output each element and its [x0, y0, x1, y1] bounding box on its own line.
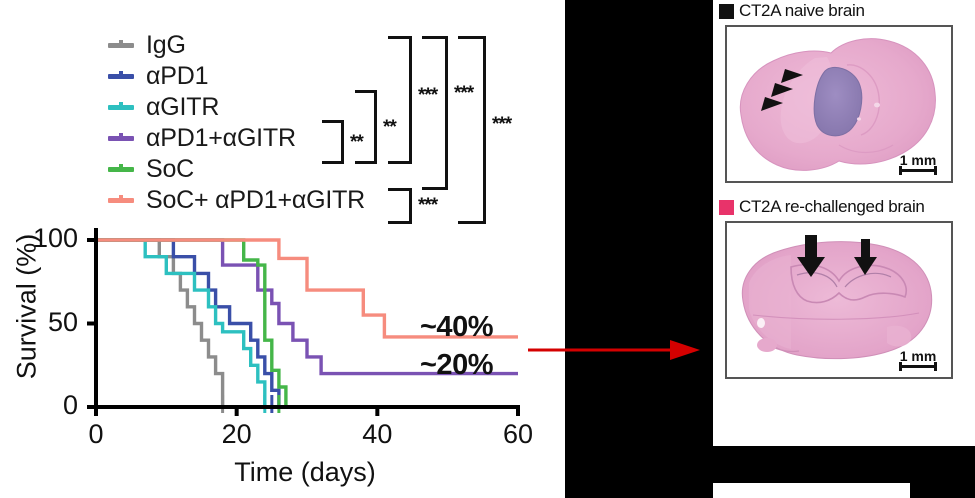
- bracket-1: [322, 120, 344, 164]
- naive-scalebar-line: [899, 169, 937, 172]
- rechallenged-color-swatch: [719, 200, 734, 215]
- stars-6: ***: [492, 115, 511, 134]
- rechallenged-scalebar-label: 1 mm: [899, 349, 937, 363]
- bracket-6: [458, 36, 486, 224]
- y-tick-label: 0: [20, 392, 78, 419]
- legend-item-label: αPD1: [146, 64, 208, 89]
- bracket-4: [388, 188, 412, 224]
- rechallenged-brain-image: 1 mm: [725, 221, 953, 379]
- naive-color-swatch: [719, 4, 734, 19]
- y-tick-label: 50: [20, 309, 78, 336]
- x-tick-label: 40: [347, 421, 407, 448]
- legend-swatch-icon: [108, 198, 134, 203]
- legend-swatch-icon: [108, 105, 134, 110]
- naive-scalebar-label: 1 mm: [899, 153, 937, 167]
- legend-swatch-icon: [108, 136, 134, 141]
- legend-item-label: SoC: [146, 157, 194, 182]
- rechallenged-caption: CT2A re-challenged brain: [739, 197, 925, 217]
- brain-caption-row-naive: CT2A naive brain: [713, 0, 975, 22]
- legend-item-label: αGITR: [146, 95, 219, 120]
- survival-curve: [96, 240, 223, 407]
- x-axis-label: Time (days): [140, 457, 470, 488]
- connector-zone: [565, 0, 713, 498]
- bracket-3: [388, 36, 412, 164]
- red-arrow: [520, 330, 710, 370]
- kaplan-meier-chart: Survival (%) Time (days) 0501000204060~4…: [0, 225, 565, 425]
- bracket-5: [422, 36, 448, 190]
- legend-swatch-icon: [108, 74, 134, 79]
- x-tick-label: 0: [66, 421, 126, 448]
- significance-brackets: ** ** *** *** *** ***: [300, 20, 565, 235]
- legend-item-label: IgG: [146, 33, 186, 58]
- survival-annotation: ~40%: [420, 313, 493, 342]
- rechallenged-scalebar-line: [899, 365, 937, 368]
- legend-swatch-icon: [108, 167, 134, 172]
- naive-scalebar: 1 mm: [899, 153, 937, 172]
- naive-caption: CT2A naive brain: [739, 1, 865, 21]
- brain-caption-row-rechallenged: CT2A re-challenged brain: [713, 196, 975, 218]
- x-tick-label: 60: [488, 421, 548, 448]
- stars-4: ***: [418, 196, 437, 215]
- survival-annotation: ~20%: [420, 351, 493, 380]
- legend-swatch-icon: [108, 43, 134, 48]
- x-tick-label: 20: [207, 421, 267, 448]
- legend-item-label: αPD1+αGITR: [146, 126, 296, 151]
- bracket-2: [355, 90, 377, 164]
- naive-brain-image: 1 mm: [725, 25, 953, 183]
- y-tick-label: 100: [20, 225, 78, 252]
- figure-root: IgGαPD1αGITRαPD1+αGITRSoCSoC+ αPD1+αGITR…: [0, 0, 975, 498]
- histology-panel: CT2A naive brain: [713, 0, 975, 446]
- rechallenged-scalebar: 1 mm: [899, 349, 937, 368]
